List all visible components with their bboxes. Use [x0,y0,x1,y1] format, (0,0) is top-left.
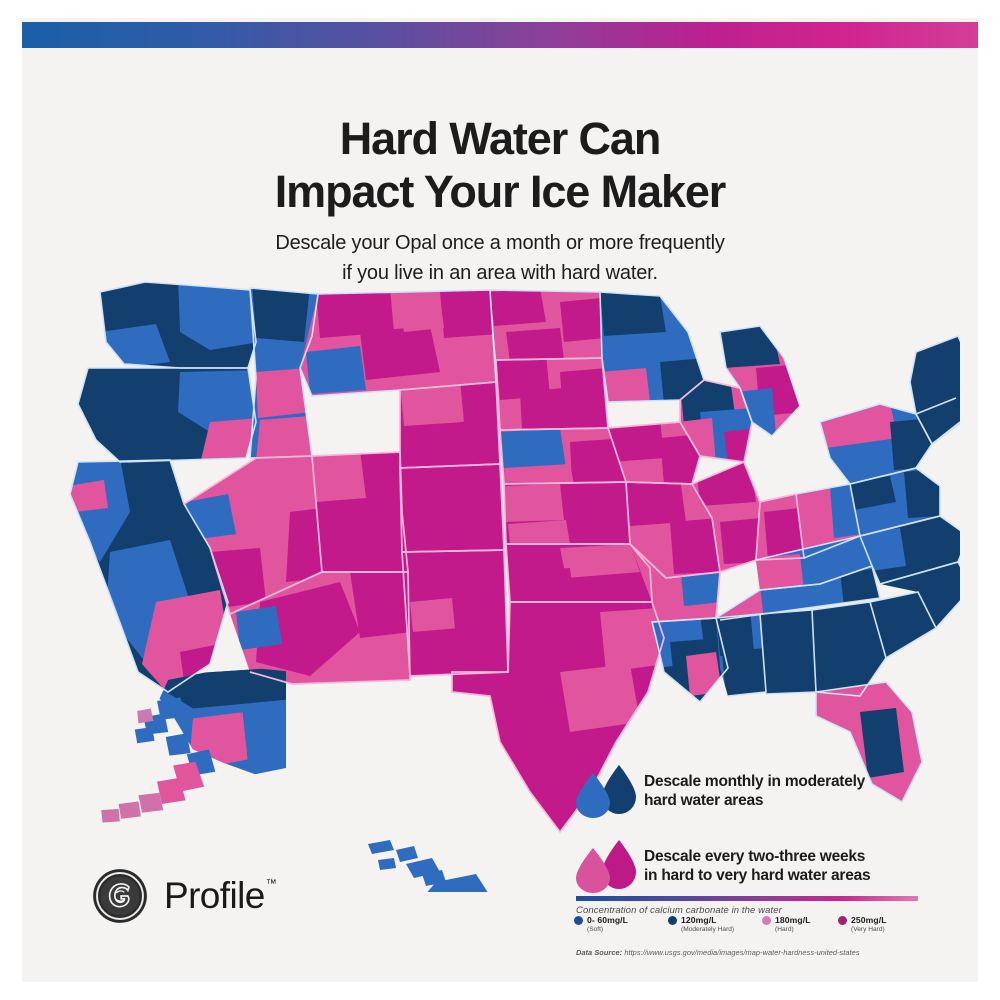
scale-key-soft-label: 0- 60mg/L [587,915,628,925]
legend-text-pink: Descale every two-three weeks in hard to… [644,847,870,885]
legend-pink-line-2: in hard to very hard water areas [644,866,870,885]
water-drop-front-pink-icon [574,843,612,893]
data-source-prefix: Data Source: [576,948,622,957]
title-line-1: Hard Water Can [340,113,661,164]
brand-name: Profile [164,875,265,916]
scale-key-soft: 0- 60mg/L [574,915,628,925]
data-source-url: https://www.usgs.gov/media/images/map-wa… [624,948,859,957]
swatch-moderate-icon [668,916,677,925]
water-drop-pair-blue-icon [572,762,644,820]
ge-profile-wordmark: Profile™ [164,875,275,917]
scale-key-very-hard: 250mg/L [838,915,887,925]
scale-key-hard-sub: (Hard) [775,926,794,934]
swatch-hard-icon [762,916,771,925]
legend-row-pink: Descale every two-three weeks in hard to… [572,837,922,895]
ge-profile-logo: Profile™ [92,868,275,924]
scale-key-moderate-sub: (Moderately Hard) [681,926,734,934]
swatch-soft-icon [574,916,583,925]
legend-text-blue: Descale monthly in moderately hard water… [644,772,865,810]
legend-row-blue: Descale monthly in moderately hard water… [572,762,922,820]
top-gradient-bar [22,22,978,48]
water-drop-front-icon [574,768,612,818]
legend-pink-line-1: Descale every two-three weeks [644,847,870,866]
scale-key-very-hard-label: 250mg/L [851,915,887,925]
page-title: Hard Water Can Impact Your Ice Maker [0,112,1000,218]
scale-key-very-hard-sub: (Very Hard) [851,926,885,934]
ge-monogram-icon [92,868,148,924]
state-hawaii [368,840,494,892]
legend-blue-line-1: Descale monthly in moderately [644,772,865,791]
hardness-gradient-scale [576,896,918,901]
map-legend: Descale monthly in moderately hard water… [572,762,922,912]
scale-key-hard: 180mg/L [762,915,811,925]
scale-key-soft-sub: (Soft) [587,926,603,934]
title-line-2: Impact Your Ice Maker [0,165,1000,218]
scale-key-hard-label: 180mg/L [775,915,811,925]
scale-key-moderate-label: 120mg/L [681,915,717,925]
swatch-very-hard-icon [838,916,847,925]
data-source-note: Data Source: https://www.usgs.gov/media/… [576,948,936,957]
scale-key-moderate: 120mg/L [668,915,717,925]
subtitle-line-1: Descale your Opal once a month or more f… [275,232,724,254]
water-drop-pair-pink-icon [572,837,644,895]
scale-key-list: 0- 60mg/L (Soft) 120mg/L (Moderately Har… [574,915,924,941]
trademark-symbol: ™ [266,878,276,890]
legend-blue-line-2: hard water areas [644,791,865,810]
